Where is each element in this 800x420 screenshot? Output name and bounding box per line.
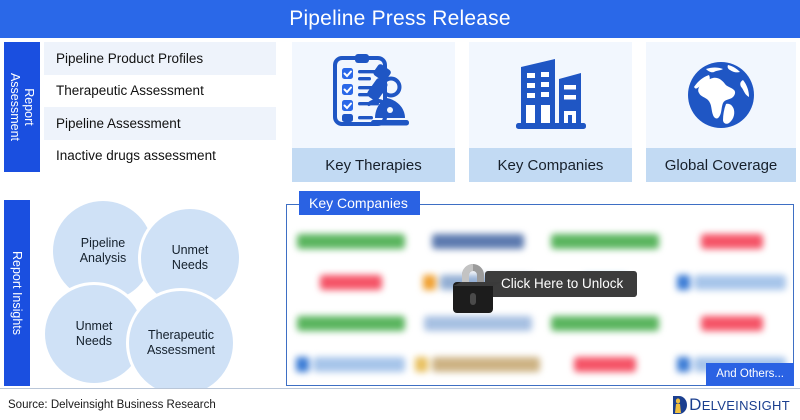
card-key-companies[interactable]: Key Companies bbox=[469, 42, 632, 182]
company-logo bbox=[551, 316, 659, 331]
list-item[interactable]: Pipeline Product Profiles bbox=[44, 42, 276, 75]
feature-cards: Key Therapies bbox=[292, 42, 796, 182]
insight-circle-line1: Unmet bbox=[76, 319, 113, 333]
list-item-label: Therapeutic Assessment bbox=[56, 83, 204, 98]
company-logo-wordmark bbox=[432, 357, 540, 372]
report-insights-vertical-text: Report Insights bbox=[10, 251, 24, 335]
card-key-therapies[interactable]: Key Therapies bbox=[292, 42, 455, 182]
card-label: Key Companies bbox=[469, 148, 632, 182]
press-release-infographic: Pipeline Press Release Report Assessment… bbox=[0, 0, 800, 420]
company-logo-wordmark bbox=[297, 234, 405, 249]
company-logo-wordmark bbox=[701, 316, 763, 331]
delveinsight-mark-icon bbox=[672, 395, 688, 415]
footer: Source: Delveinsight Business Research D… bbox=[0, 388, 800, 420]
key-companies-tab-label: Key Companies bbox=[309, 195, 408, 211]
company-logo-mark bbox=[677, 357, 690, 372]
company-logo bbox=[432, 234, 524, 249]
list-item-label: Inactive drugs assessment bbox=[56, 148, 216, 163]
insight-circle-line1: Therapeutic bbox=[148, 328, 214, 342]
padlock-icon bbox=[445, 253, 501, 315]
company-logo-wordmark bbox=[320, 275, 382, 290]
insight-circle-line2: Assessment bbox=[147, 343, 215, 357]
company-logo bbox=[701, 316, 763, 331]
list-item-label: Pipeline Product Profiles bbox=[56, 51, 203, 66]
list-item-label: Pipeline Assessment bbox=[56, 116, 181, 131]
page-title: Pipeline Press Release bbox=[289, 7, 511, 31]
company-logo-wordmark bbox=[424, 316, 532, 331]
brand-name: DELVEINSIGHT bbox=[689, 395, 790, 415]
brand-cap: D bbox=[689, 395, 702, 414]
unlock-cta[interactable]: Click Here to Unlock bbox=[445, 253, 637, 315]
company-logo bbox=[677, 275, 786, 290]
company-logo bbox=[297, 316, 405, 331]
insight-circle-line2: Needs bbox=[76, 334, 112, 348]
unlock-tooltip-label: Click Here to Unlock bbox=[485, 271, 637, 298]
insight-circle-line1: Pipeline bbox=[81, 236, 125, 250]
report-assessment-list: Pipeline Product Profiles Therapeutic As… bbox=[44, 42, 276, 172]
company-logo bbox=[415, 357, 540, 372]
list-item[interactable]: Pipeline Assessment bbox=[44, 107, 276, 140]
company-logo-wordmark bbox=[701, 234, 763, 249]
key-companies-tab: Key Companies bbox=[299, 191, 420, 215]
company-logo bbox=[551, 234, 659, 249]
company-logo-wordmark bbox=[551, 234, 659, 249]
key-companies-panel: Key Companies Click Here to Unlock And O… bbox=[286, 204, 794, 386]
company-logo-wordmark bbox=[297, 316, 405, 331]
globe-icon bbox=[646, 42, 796, 148]
source-text: Source: Delveinsight Business Research bbox=[8, 399, 216, 411]
company-logo bbox=[320, 275, 382, 290]
and-others-badge[interactable]: And Others... bbox=[706, 363, 794, 386]
report-insights-circles: Pipeline Analysis Unmet Needs Unmet Need… bbox=[36, 196, 274, 386]
card-label: Global Coverage bbox=[646, 148, 796, 182]
company-logo-mark bbox=[296, 357, 309, 372]
company-logo bbox=[296, 357, 405, 372]
company-logo bbox=[701, 234, 763, 249]
page-header: Pipeline Press Release bbox=[0, 0, 800, 38]
insight-circle-line2: Needs bbox=[172, 258, 208, 272]
report-insights-sidebar-label: Report Insights bbox=[4, 200, 30, 386]
company-logo-wordmark bbox=[313, 357, 405, 372]
insight-circle: Therapeutic Assessment bbox=[126, 288, 236, 398]
card-global-coverage[interactable]: Global Coverage bbox=[646, 42, 796, 182]
card-label: Key Therapies bbox=[292, 148, 455, 182]
company-logo-wordmark bbox=[551, 316, 659, 331]
company-logo-wordmark bbox=[432, 234, 524, 249]
company-logo-mark bbox=[677, 275, 690, 290]
brand-rest: ELVEINSIGHT bbox=[702, 398, 790, 413]
company-logo-wordmark bbox=[574, 357, 636, 372]
clipboard-microscope-icon bbox=[292, 42, 455, 148]
office-buildings-icon bbox=[469, 42, 632, 148]
company-logo-wordmark bbox=[694, 275, 786, 290]
company-logo bbox=[574, 357, 636, 372]
company-logo-mark bbox=[415, 357, 428, 372]
company-logo bbox=[424, 316, 532, 331]
insight-circle-line1: Unmet bbox=[172, 243, 209, 257]
report-assessment-sidebar-label: Report Assessment bbox=[4, 42, 40, 172]
insight-circle-line2: Analysis bbox=[80, 251, 127, 265]
company-logo bbox=[297, 234, 405, 249]
delveinsight-logo: DELVEINSIGHT bbox=[672, 395, 790, 415]
company-logo-mark bbox=[423, 275, 436, 290]
list-item[interactable]: Inactive drugs assessment bbox=[44, 140, 276, 173]
report-assessment-vertical-text: Report Assessment bbox=[8, 73, 36, 141]
list-item[interactable]: Therapeutic Assessment bbox=[44, 75, 276, 108]
